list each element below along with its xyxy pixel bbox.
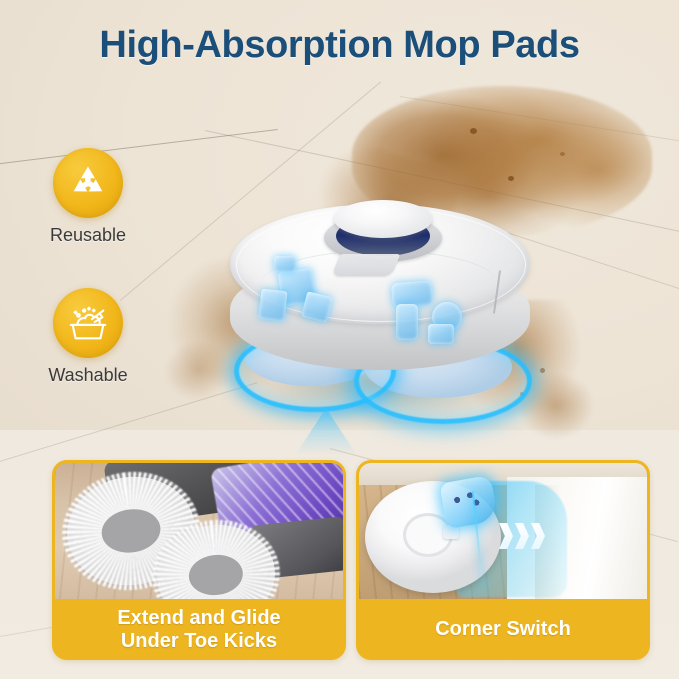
mop-detail-dots bbox=[449, 487, 484, 515]
dustbin-release-tab bbox=[332, 254, 401, 276]
page-title: High-Absorption Mop Pads bbox=[0, 24, 679, 67]
dirt-speck bbox=[470, 128, 477, 134]
badge-reusable: Reusable bbox=[22, 148, 154, 246]
badge-washable: Washable bbox=[22, 288, 154, 386]
mop-mechanism-part bbox=[396, 304, 418, 340]
mop-mechanism-part bbox=[428, 324, 454, 344]
product-feature-image: High-Absorption Mop Pads Reusable bbox=[0, 0, 679, 679]
badge-label: Washable bbox=[22, 365, 154, 386]
panel-photo-corner-switch bbox=[359, 463, 647, 599]
panel-caption: Corner Switch bbox=[435, 618, 571, 640]
recycle-icon bbox=[53, 148, 123, 218]
lidar-cap bbox=[334, 200, 432, 238]
wash-basin-icon bbox=[53, 288, 123, 358]
panel-caption: Extend and Glide Under Toe Kicks bbox=[117, 607, 280, 652]
panel-caption-band: Corner Switch bbox=[359, 602, 647, 657]
mop-mechanism-part bbox=[259, 289, 288, 322]
panel-caption-line1: Corner Switch bbox=[435, 618, 571, 640]
mop-pad-core bbox=[187, 552, 245, 597]
dirt-speck bbox=[560, 152, 565, 156]
panel-caption-band: Extend and Glide Under Toe Kicks bbox=[55, 602, 343, 657]
feature-panel-corner-switch[interactable]: Corner Switch bbox=[356, 460, 650, 660]
badge-label: Reusable bbox=[22, 225, 154, 246]
robot-vacuum bbox=[196, 186, 556, 436]
feature-panel-extend-and-glide[interactable]: Extend and Glide Under Toe Kicks bbox=[52, 460, 346, 660]
mop-pad-core bbox=[99, 506, 163, 557]
mop-mechanism-part bbox=[274, 256, 296, 272]
dirt-speck bbox=[508, 176, 514, 181]
panel-photo-mop-pads bbox=[55, 463, 343, 599]
panel-caption-line1: Extend and Glide bbox=[117, 607, 280, 629]
panel-caption-line2: Under Toe Kicks bbox=[121, 630, 277, 652]
